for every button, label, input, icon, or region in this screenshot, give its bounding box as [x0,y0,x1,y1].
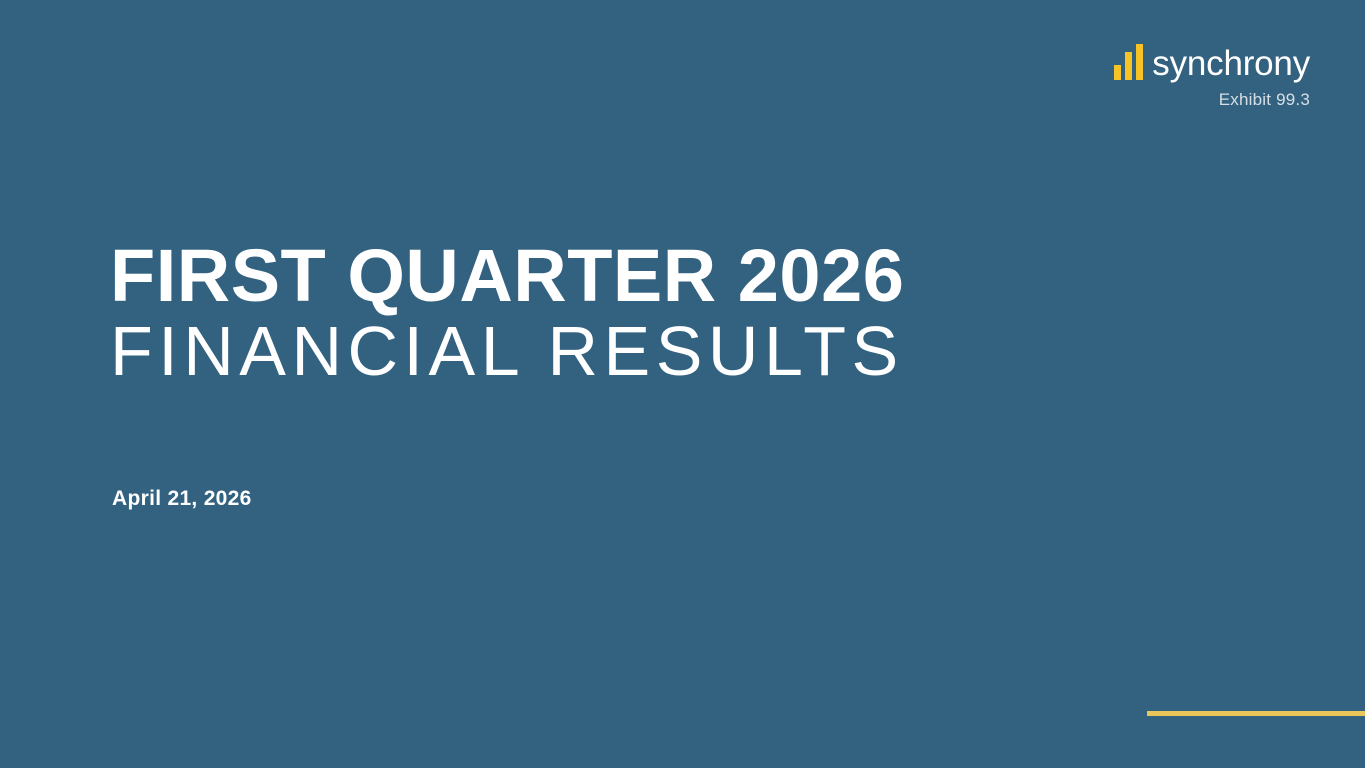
synchrony-logo-lockup: synchrony [1050,42,1310,82]
logo-bar-tall [1136,44,1143,80]
exhibit-label: Exhibit 99.3 [1050,90,1310,110]
bottom-accent-rule [1147,711,1365,716]
synchrony-wordmark: synchrony [1152,46,1310,82]
title-line-primary: FIRST QUARTER 2026 [110,238,1110,314]
presentation-date: April 21, 2026 [112,487,252,511]
logo-bar-medium [1125,52,1132,80]
page-title: FIRST QUARTER 2026 FINANCIAL RESULTS [110,238,1110,388]
title-slide: synchrony Exhibit 99.3 FIRST QUARTER 202… [0,0,1365,768]
title-line-secondary: FINANCIAL RESULTS [110,314,1110,388]
logo-bar-short [1114,65,1121,80]
synchrony-bars-logo-icon [1114,42,1143,82]
brand-block: synchrony Exhibit 99.3 [1050,42,1310,110]
